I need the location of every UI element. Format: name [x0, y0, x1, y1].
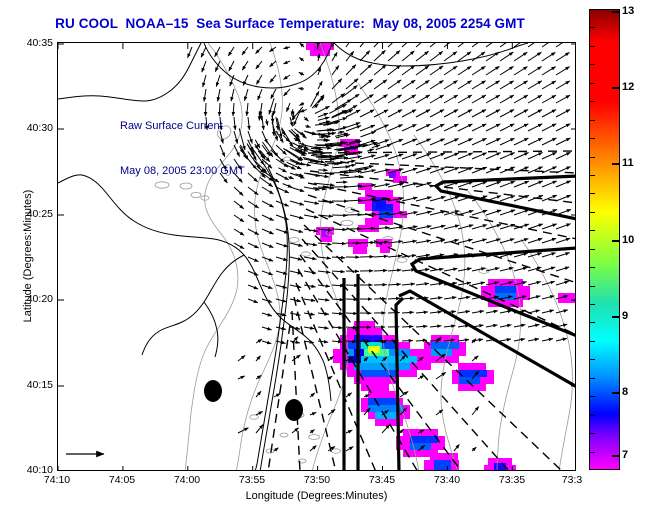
- current-vector: [472, 153, 487, 159]
- current-vector: [416, 95, 430, 103]
- current-vector: [234, 229, 244, 235]
- current-vector: [556, 310, 568, 313]
- current-vector: [290, 257, 302, 260]
- current-vector: [458, 81, 472, 89]
- current-vector: [514, 95, 528, 103]
- current-vector: [332, 93, 345, 103]
- current-vector: [266, 119, 267, 125]
- current-vector: [514, 52, 527, 61]
- current-vector: [304, 117, 309, 121]
- current-vector: [276, 285, 287, 288]
- current-vector: [288, 177, 293, 179]
- current-vector: [416, 139, 431, 145]
- current-vector: [514, 138, 529, 145]
- current-vector: [304, 327, 314, 329]
- current-vector: [486, 325, 498, 327]
- current-vector: [332, 257, 345, 258]
- current-vector: [416, 226, 431, 229]
- current-vector: [304, 229, 318, 231]
- current-vector: [430, 283, 443, 285]
- colorbar-tick-mark: [590, 322, 595, 323]
- current-vector: [283, 75, 290, 80]
- current-vector: [444, 139, 459, 146]
- current-vector: [298, 88, 304, 89]
- current-vector: [256, 391, 261, 397]
- current-vector: [304, 215, 318, 218]
- current-vector: [374, 95, 388, 103]
- current-vector: [402, 241, 417, 243]
- current-vector: [542, 110, 556, 118]
- current-vector: [444, 168, 459, 174]
- current-vector: [346, 447, 353, 452]
- current-vector: [402, 197, 418, 201]
- current-vector: [262, 327, 272, 330]
- current-vector: [542, 238, 556, 243]
- current-vector: [272, 113, 273, 123]
- ytick-label: 40:30: [1, 122, 53, 134]
- current-vector: [242, 47, 248, 55]
- current-vector: [276, 243, 288, 247]
- current-vector: [318, 159, 334, 160]
- current-vector: [388, 125, 403, 132]
- current-vector: [500, 153, 515, 160]
- current-vector: [325, 156, 345, 157]
- current-vector: [340, 123, 360, 130]
- page-title: RU COOL NOAA–15 Sea Surface Temperature:…: [0, 16, 580, 31]
- current-vector: [256, 356, 261, 361]
- current-vector: [500, 52, 513, 61]
- current-vector: [500, 311, 512, 314]
- station-marker: [204, 380, 222, 402]
- current-vector: [556, 67, 570, 75]
- current-vector: [556, 138, 570, 145]
- xtick-label: 74:10: [44, 474, 70, 486]
- current-vector: [332, 215, 347, 216]
- current-vector: [318, 117, 330, 120]
- current-vector: [402, 270, 416, 272]
- current-vector: [267, 141, 279, 157]
- colorbar-tick-label: 9: [622, 310, 628, 322]
- colorbar-tick-mark: [590, 396, 595, 397]
- current-vector: [486, 153, 501, 159]
- current-vector: [528, 253, 542, 257]
- current-vector: [416, 183, 431, 188]
- current-vector: [388, 256, 402, 257]
- xtick-label: 74:00: [174, 474, 200, 486]
- current-vector: [290, 243, 303, 246]
- current-vector: [542, 224, 557, 229]
- colorbar-tick-mark: [590, 212, 595, 213]
- current-vector: [346, 171, 362, 173]
- map-plot-area[interactable]: Raw Surface Current May 08, 2005 23:00 G…: [57, 42, 576, 471]
- current-vector: [269, 98, 274, 114]
- current-vector: [430, 110, 444, 118]
- current-vector: [248, 243, 259, 248]
- current-vector: [360, 242, 375, 243]
- current-vector: [402, 284, 415, 285]
- current-vector: [318, 313, 329, 314]
- current-vector: [234, 215, 244, 222]
- current-vector: [458, 66, 471, 75]
- current-vector: [346, 341, 357, 342]
- current-vector: [402, 341, 413, 342]
- current-vector: [514, 210, 529, 215]
- current-vector: [556, 281, 569, 285]
- current-vector: [374, 155, 389, 159]
- current-vector: [486, 52, 499, 61]
- current-vector: [304, 201, 319, 204]
- current-vector: [556, 152, 571, 159]
- current-vector: [270, 61, 277, 67]
- current-vector: [318, 170, 327, 171]
- current-vector: [486, 181, 501, 187]
- current-vector: [336, 135, 350, 138]
- current-vector: [333, 167, 350, 168]
- current-vector: [528, 110, 542, 118]
- current-vector: [262, 285, 273, 289]
- current-vector: [346, 285, 358, 286]
- current-vector: [300, 43, 304, 47]
- current-vector: [248, 285, 258, 289]
- current-vector: [340, 170, 353, 171]
- current-vector: [472, 447, 476, 451]
- current-vector: [276, 215, 289, 220]
- current-vector: [318, 327, 329, 328]
- current-vector: [298, 143, 306, 146]
- sst-patch: [361, 391, 410, 426]
- current-vector: [318, 341, 328, 342]
- current-vector: [472, 356, 478, 361]
- current-vector: [430, 312, 442, 313]
- current-vector: [556, 95, 570, 103]
- current-vector: [262, 215, 274, 221]
- current-vector: [528, 224, 543, 229]
- current-vector: [310, 430, 315, 434]
- current-vector: [273, 103, 276, 115]
- colorbar-tick-mark: [590, 378, 595, 379]
- xtick-label: 73:45: [369, 474, 395, 486]
- colorbar-tick-mark: [590, 452, 595, 453]
- current-vector: [542, 81, 556, 89]
- colorbar-tick-mark: [590, 193, 595, 194]
- current-vector: [336, 182, 347, 183]
- current-vector: [486, 66, 500, 75]
- current-vector: [228, 47, 234, 56]
- current-vector: [388, 227, 403, 229]
- current-vector: [290, 187, 304, 192]
- current-vector: [270, 75, 276, 83]
- current-vector: [312, 95, 324, 108]
- colorbar-tick-mark: [590, 286, 595, 287]
- current-vector: [248, 229, 259, 235]
- current-vector: [444, 95, 458, 103]
- ytick-label: 40:15: [1, 379, 53, 391]
- current-vector: [374, 270, 387, 271]
- current-vector: [458, 110, 472, 118]
- current-vector: [402, 139, 417, 145]
- colorbar-tick-label: 10: [622, 234, 634, 246]
- current-vector: [542, 95, 556, 103]
- current-vector: [500, 43, 513, 47]
- current-vector: [444, 297, 456, 299]
- current-vector: [472, 81, 486, 89]
- current-vector: [542, 296, 554, 299]
- current-vector: [416, 51, 429, 61]
- current-vector: [304, 285, 316, 287]
- current-vector: [248, 257, 259, 262]
- current-vector: [318, 133, 332, 134]
- annotation-line-2: May 08, 2005 23:00 GMT: [120, 164, 245, 179]
- current-vector: [458, 325, 470, 327]
- current-vector: [458, 138, 473, 145]
- current-vector: [276, 299, 287, 302]
- current-vector: [293, 111, 294, 120]
- current-vector: [486, 124, 500, 131]
- current-vector: [388, 183, 404, 187]
- current-vector: [388, 80, 401, 89]
- current-vector: [500, 239, 514, 243]
- current-vector: [416, 110, 430, 118]
- current-vector: [472, 66, 485, 75]
- current-vector: [346, 79, 358, 89]
- annotation-line-1: Raw Surface Current: [120, 119, 245, 134]
- current-vector: [400, 391, 408, 397]
- current-vector: [472, 407, 479, 416]
- current-vector: [238, 355, 245, 361]
- current-vector: [514, 153, 529, 160]
- current-vector: [290, 215, 304, 219]
- current-vector: [416, 326, 427, 327]
- current-vector: [248, 117, 249, 130]
- current-vector: [528, 67, 542, 76]
- current-vector: [444, 43, 457, 47]
- current-vector: [271, 89, 276, 99]
- current-vector: [262, 117, 264, 130]
- current-vector: [248, 299, 258, 303]
- current-vector: [528, 238, 542, 243]
- current-vector: [304, 299, 315, 301]
- colorbar-tick-mark: [590, 249, 595, 250]
- current-vector: [308, 162, 329, 165]
- current-vector: [500, 181, 515, 187]
- current-vector: [556, 253, 570, 257]
- current-vector: [331, 111, 347, 118]
- current-vector: [346, 65, 356, 75]
- current-vector: [486, 95, 500, 103]
- current-vector: [486, 311, 498, 313]
- current-vector: [528, 124, 542, 131]
- current-vector: [290, 285, 301, 288]
- current-vector: [458, 340, 469, 342]
- current-vector: [332, 172, 348, 173]
- current-vector: [454, 444, 459, 451]
- current-vector: [514, 67, 528, 76]
- current-vector: [287, 103, 291, 112]
- current-vector: [400, 429, 404, 433]
- current-vector: [290, 117, 293, 127]
- current-vector: [444, 110, 458, 118]
- raw-surface-current-annotation: Raw Surface Current May 08, 2005 23:00 G…: [120, 89, 245, 209]
- current-vector: [299, 58, 304, 62]
- current-vector: [274, 393, 280, 397]
- current-vector: [444, 66, 457, 75]
- current-vector: [346, 43, 352, 47]
- current-vector: [528, 325, 539, 328]
- current-vector: [416, 255, 430, 257]
- current-vector: [372, 145, 380, 148]
- colorbar-major-tick: [612, 316, 620, 318]
- current-vector: [262, 243, 273, 248]
- current-vector: [430, 168, 445, 173]
- current-vector: [402, 43, 414, 47]
- current-vector: [311, 148, 323, 149]
- current-vector: [332, 52, 337, 61]
- current-vector: [514, 325, 525, 327]
- current-vector: [542, 253, 556, 257]
- sst-patch: [348, 239, 368, 254]
- current-vector: [514, 124, 528, 131]
- colorbar-tick-mark: [590, 267, 595, 268]
- current-vector: [528, 282, 541, 285]
- current-vector: [416, 211, 432, 215]
- current-vector: [486, 239, 501, 243]
- current-vector: [500, 210, 515, 215]
- current-vector: [276, 131, 283, 143]
- current-vector: [248, 201, 259, 208]
- colorbar-tick-label: 8: [622, 386, 628, 398]
- current-vector: [388, 270, 401, 271]
- current-vector: [556, 124, 570, 131]
- current-vector: [500, 110, 514, 118]
- current-vector: [388, 51, 400, 62]
- current-vector: [256, 47, 263, 54]
- current-vector: [256, 75, 262, 84]
- current-vector: [328, 356, 334, 361]
- current-vector: [514, 181, 529, 187]
- current-vector: [242, 61, 248, 70]
- xtick-label: 74:05: [109, 474, 135, 486]
- current-vector: [348, 161, 356, 162]
- current-vector: [514, 110, 528, 118]
- current-vector: [542, 267, 555, 271]
- colorbar-tick-mark: [590, 83, 595, 84]
- current-vector: [313, 152, 321, 153]
- current-vector: [402, 298, 414, 299]
- current-vector: [290, 229, 303, 232]
- current-vector: [556, 338, 567, 341]
- current-vector: [332, 229, 347, 230]
- current-vector: [436, 372, 446, 379]
- current-vector: [346, 313, 357, 314]
- current-vector: [430, 153, 445, 159]
- colorbar-tick-mark: [590, 175, 595, 176]
- current-vector: [388, 298, 400, 299]
- current-vector: [430, 226, 445, 230]
- current-vector: [472, 43, 485, 47]
- colorbar-tick-mark: [590, 341, 595, 342]
- current-vector: [472, 282, 485, 285]
- current-vector: [472, 124, 486, 131]
- current-vector: [360, 140, 375, 145]
- current-vector: [248, 271, 258, 275]
- current-vector: [310, 412, 316, 415]
- sst-patch: [484, 458, 516, 471]
- current-vector: [332, 299, 344, 300]
- current-vector: [416, 168, 431, 173]
- current-vector: [444, 225, 459, 229]
- current-vector: [388, 65, 401, 75]
- current-vector: [500, 339, 511, 341]
- current-vector: [245, 89, 249, 101]
- current-vector: [258, 89, 262, 100]
- current-vector: [542, 43, 555, 47]
- current-vector: [374, 65, 386, 75]
- current-vector: [360, 79, 373, 89]
- colorbar-major-tick: [612, 163, 620, 165]
- current-vector: [514, 267, 527, 271]
- current-vector: [542, 181, 557, 187]
- current-vector: [388, 154, 403, 159]
- current-vector: [290, 201, 304, 205]
- current-vector: [402, 51, 414, 61]
- current-vector: [348, 165, 356, 166]
- current-vector: [315, 106, 330, 113]
- current-vector: [284, 89, 290, 96]
- current-vector: [388, 95, 402, 103]
- colorbar-tick-mark: [590, 138, 595, 139]
- current-vector: [416, 240, 431, 243]
- current-vector: [318, 299, 329, 300]
- current-vector: [458, 311, 470, 313]
- current-vector: [402, 80, 415, 89]
- current-vector: [374, 50, 386, 61]
- current-vector: [444, 269, 458, 272]
- current-vector: [299, 72, 304, 75]
- colorbar-tick-mark: [590, 64, 595, 65]
- xtick-label: 73:3: [562, 474, 582, 486]
- current-vector: [444, 81, 458, 90]
- colorbar-tick-mark: [590, 230, 595, 231]
- colorbar-tick-mark: [590, 101, 595, 102]
- current-vector: [346, 299, 358, 300]
- current-vector: [256, 339, 262, 343]
- current-vector: [276, 173, 289, 180]
- current-vector: [284, 164, 295, 170]
- current-vector: [282, 128, 293, 147]
- colorbar-major-tick: [612, 11, 620, 13]
- current-vector: [332, 271, 345, 272]
- current-vector: [318, 113, 328, 117]
- current-vector: [514, 81, 528, 89]
- current-vector: [430, 240, 445, 243]
- current-vector: [430, 297, 442, 299]
- current-vector: [472, 110, 486, 118]
- current-vector: [528, 52, 541, 61]
- current-vector: [310, 446, 316, 452]
- colorbar-tick-mark: [590, 46, 595, 47]
- y-axis-label: Latitude (Degrees:Minutes): [22, 136, 34, 376]
- current-vector: [416, 283, 429, 285]
- current-vector: [262, 257, 273, 261]
- current-vector: [556, 181, 571, 187]
- current-vector: [458, 95, 472, 103]
- current-vector: [430, 66, 443, 75]
- current-vector: [416, 312, 428, 313]
- current-vector: [416, 43, 428, 47]
- current-vector: [402, 168, 417, 173]
- current-vector: [342, 86, 358, 98]
- current-vector: [318, 257, 331, 259]
